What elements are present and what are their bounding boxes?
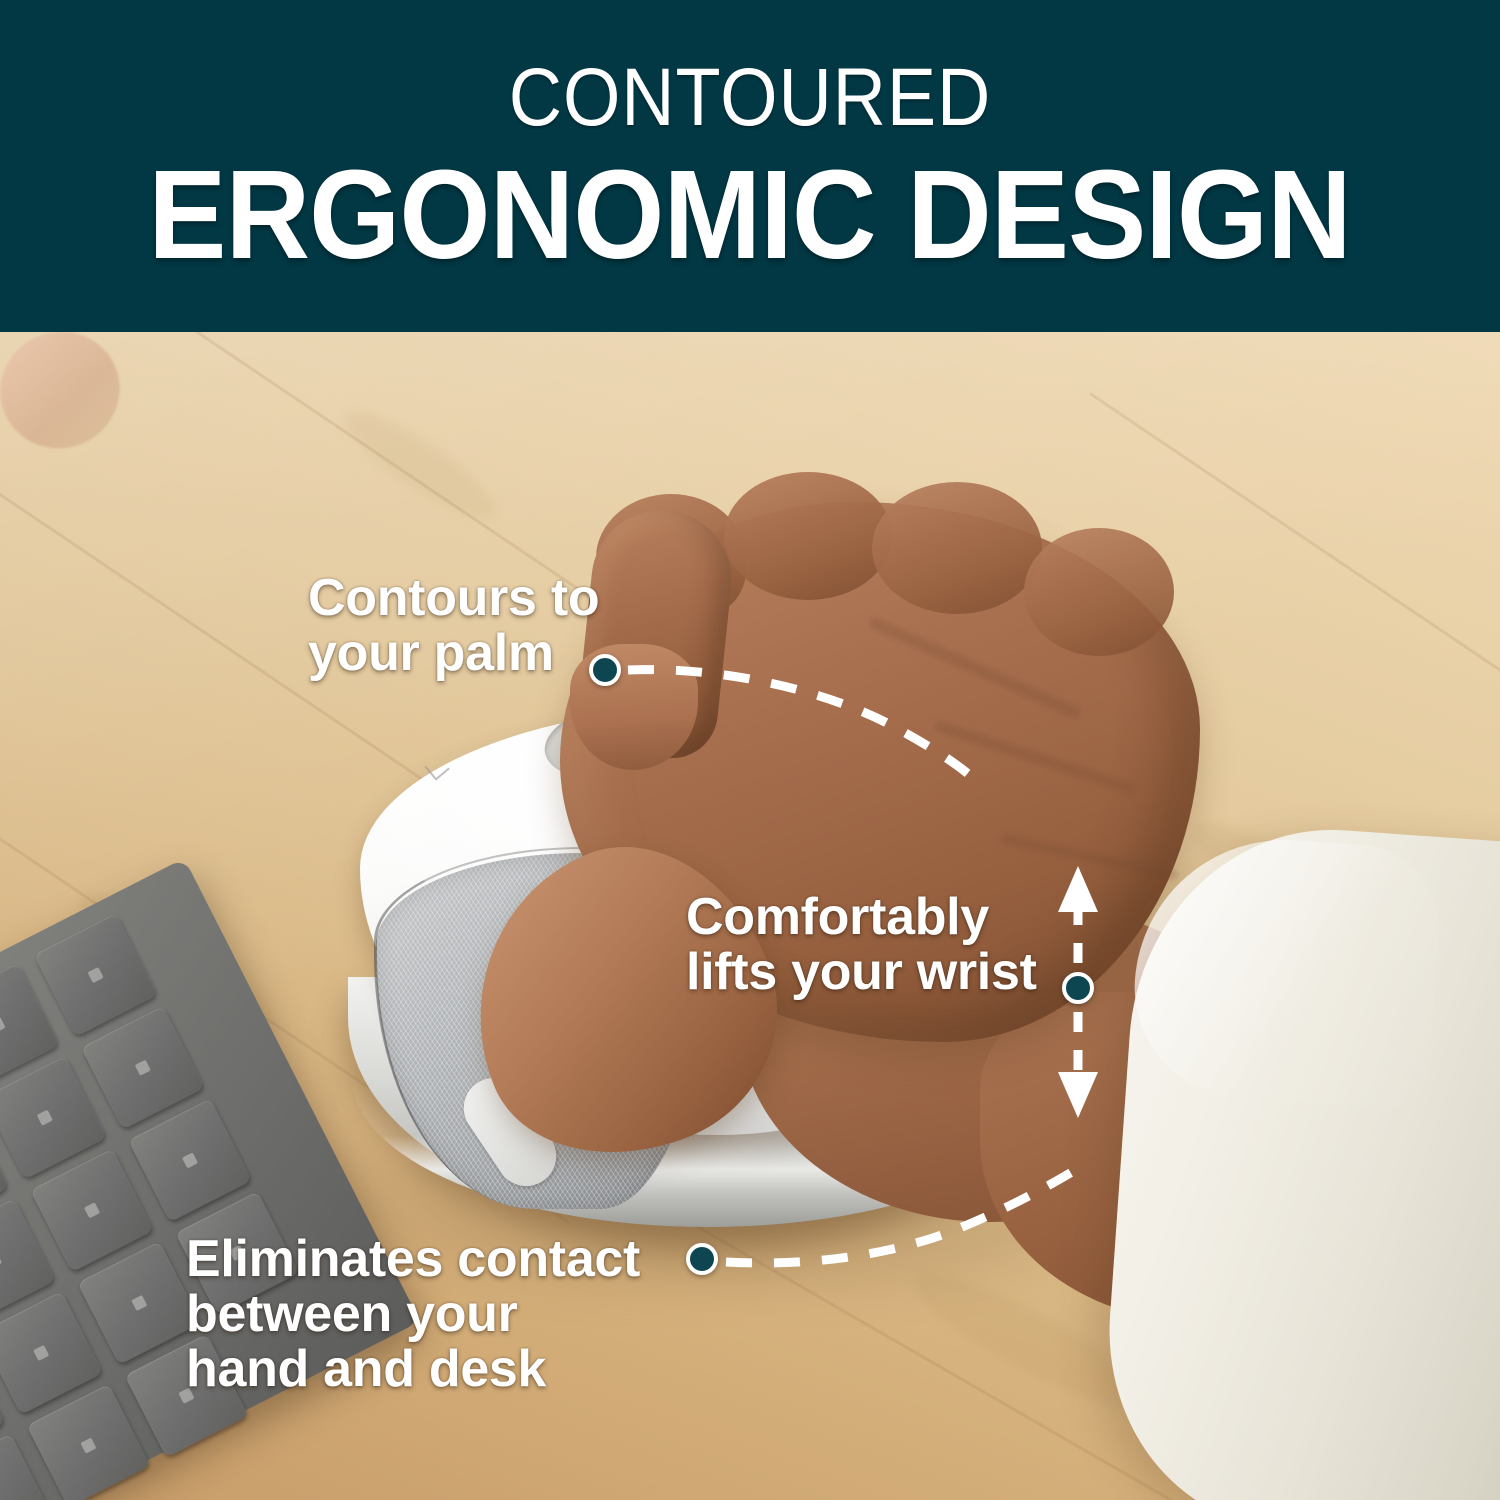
callout-eliminates-contact: Eliminates contact between your hand and…	[186, 1232, 640, 1397]
callout-comfortably-lifts-your-wrist: Comfortably lifts your wrist	[686, 890, 1037, 1000]
annotation-overlay: Contours to your palm Comfortably lifts …	[0, 0, 1500, 1500]
connector-line-contours	[628, 670, 978, 782]
connector-line-eliminates	[726, 1172, 1072, 1263]
product-feature-image: CONTOURED ERGONOMIC DESIGN	[0, 0, 1500, 1500]
marker-dot-eliminates-contact	[686, 1243, 718, 1275]
marker-dot-contours	[589, 654, 621, 686]
arrowhead-up-icon	[1058, 866, 1098, 912]
marker-dot-lifts-wrist	[1062, 972, 1094, 1004]
callout-contours-to-your-palm: Contours to your palm	[308, 571, 599, 681]
arrowhead-down-icon	[1058, 1072, 1098, 1118]
